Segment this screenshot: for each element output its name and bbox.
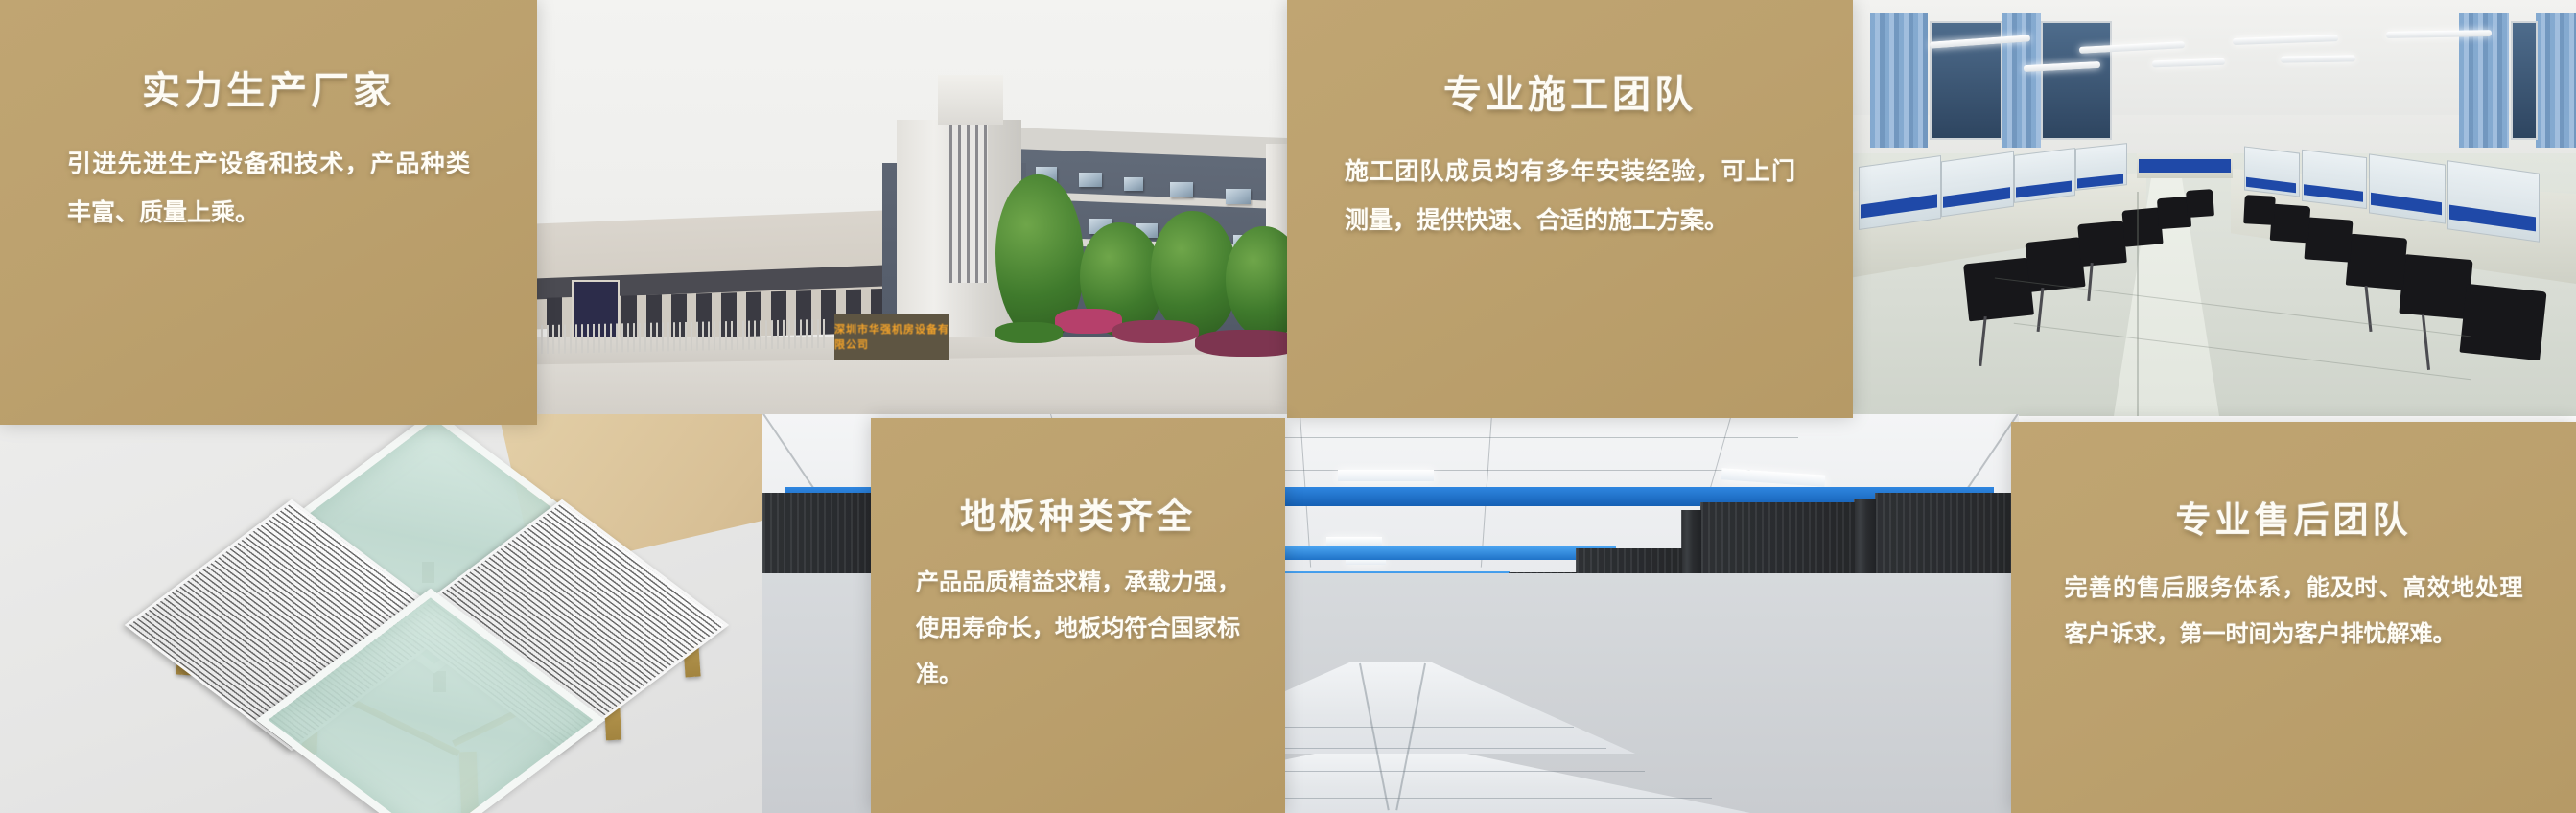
feature-card-professional-aftersales-team: 专业售后团队 完善的售后服务体系，能及时、高效地处理客户诉求，第一时间为客户排忧… [2011, 422, 2576, 813]
feature-card-professional-installation-team: 专业施工团队 施工团队成员均有多年安装经验，可上门测量，提供快速、合适的施工方案… [1287, 0, 1853, 418]
feature-card-complete-floor-types: 地板种类齐全 产品品质精益求精，承载力强，使用寿命长，地板均符合国家标准。 [871, 418, 1285, 813]
office-workstation-photo [1849, 0, 2576, 416]
feature-card-body: 施工团队成员均有多年安装经验，可上门测量，提供快速、合适的施工方案。 [1345, 148, 1795, 246]
factory-exterior-photo: 深圳市华强机房设备有限公司 [537, 0, 1304, 418]
feature-card-title: 实力生产厂家 [142, 59, 395, 115]
feature-card-title: 专业施工团队 [1443, 63, 1697, 119]
feature-card-body: 引进先进生产设备和技术，产品种类丰富、质量上乘。 [67, 140, 470, 239]
factory-sign-text: 深圳市华强机房设备有限公司 [834, 321, 949, 352]
feature-card-body: 完善的售后服务体系，能及时、高效地处理客户诉求，第一时间为客户排忧解难。 [2065, 566, 2523, 658]
promo-banner: 深圳市华强机房设备有限公司 [0, 0, 2576, 813]
feature-card-strength-manufacturer: 实力生产厂家 引进先进生产设备和技术，产品种类丰富、质量上乘。 [0, 0, 537, 425]
feature-card-body: 产品品质精益求精，承载力强，使用寿命长，地板均符合国家标准。 [916, 560, 1240, 698]
raised-access-floor-photo [0, 414, 767, 813]
feature-card-title: 专业售后团队 [2176, 491, 2412, 543]
factory-sign: 深圳市华强机房设备有限公司 [834, 314, 949, 360]
feature-card-title: 地板种类齐全 [960, 487, 1196, 539]
